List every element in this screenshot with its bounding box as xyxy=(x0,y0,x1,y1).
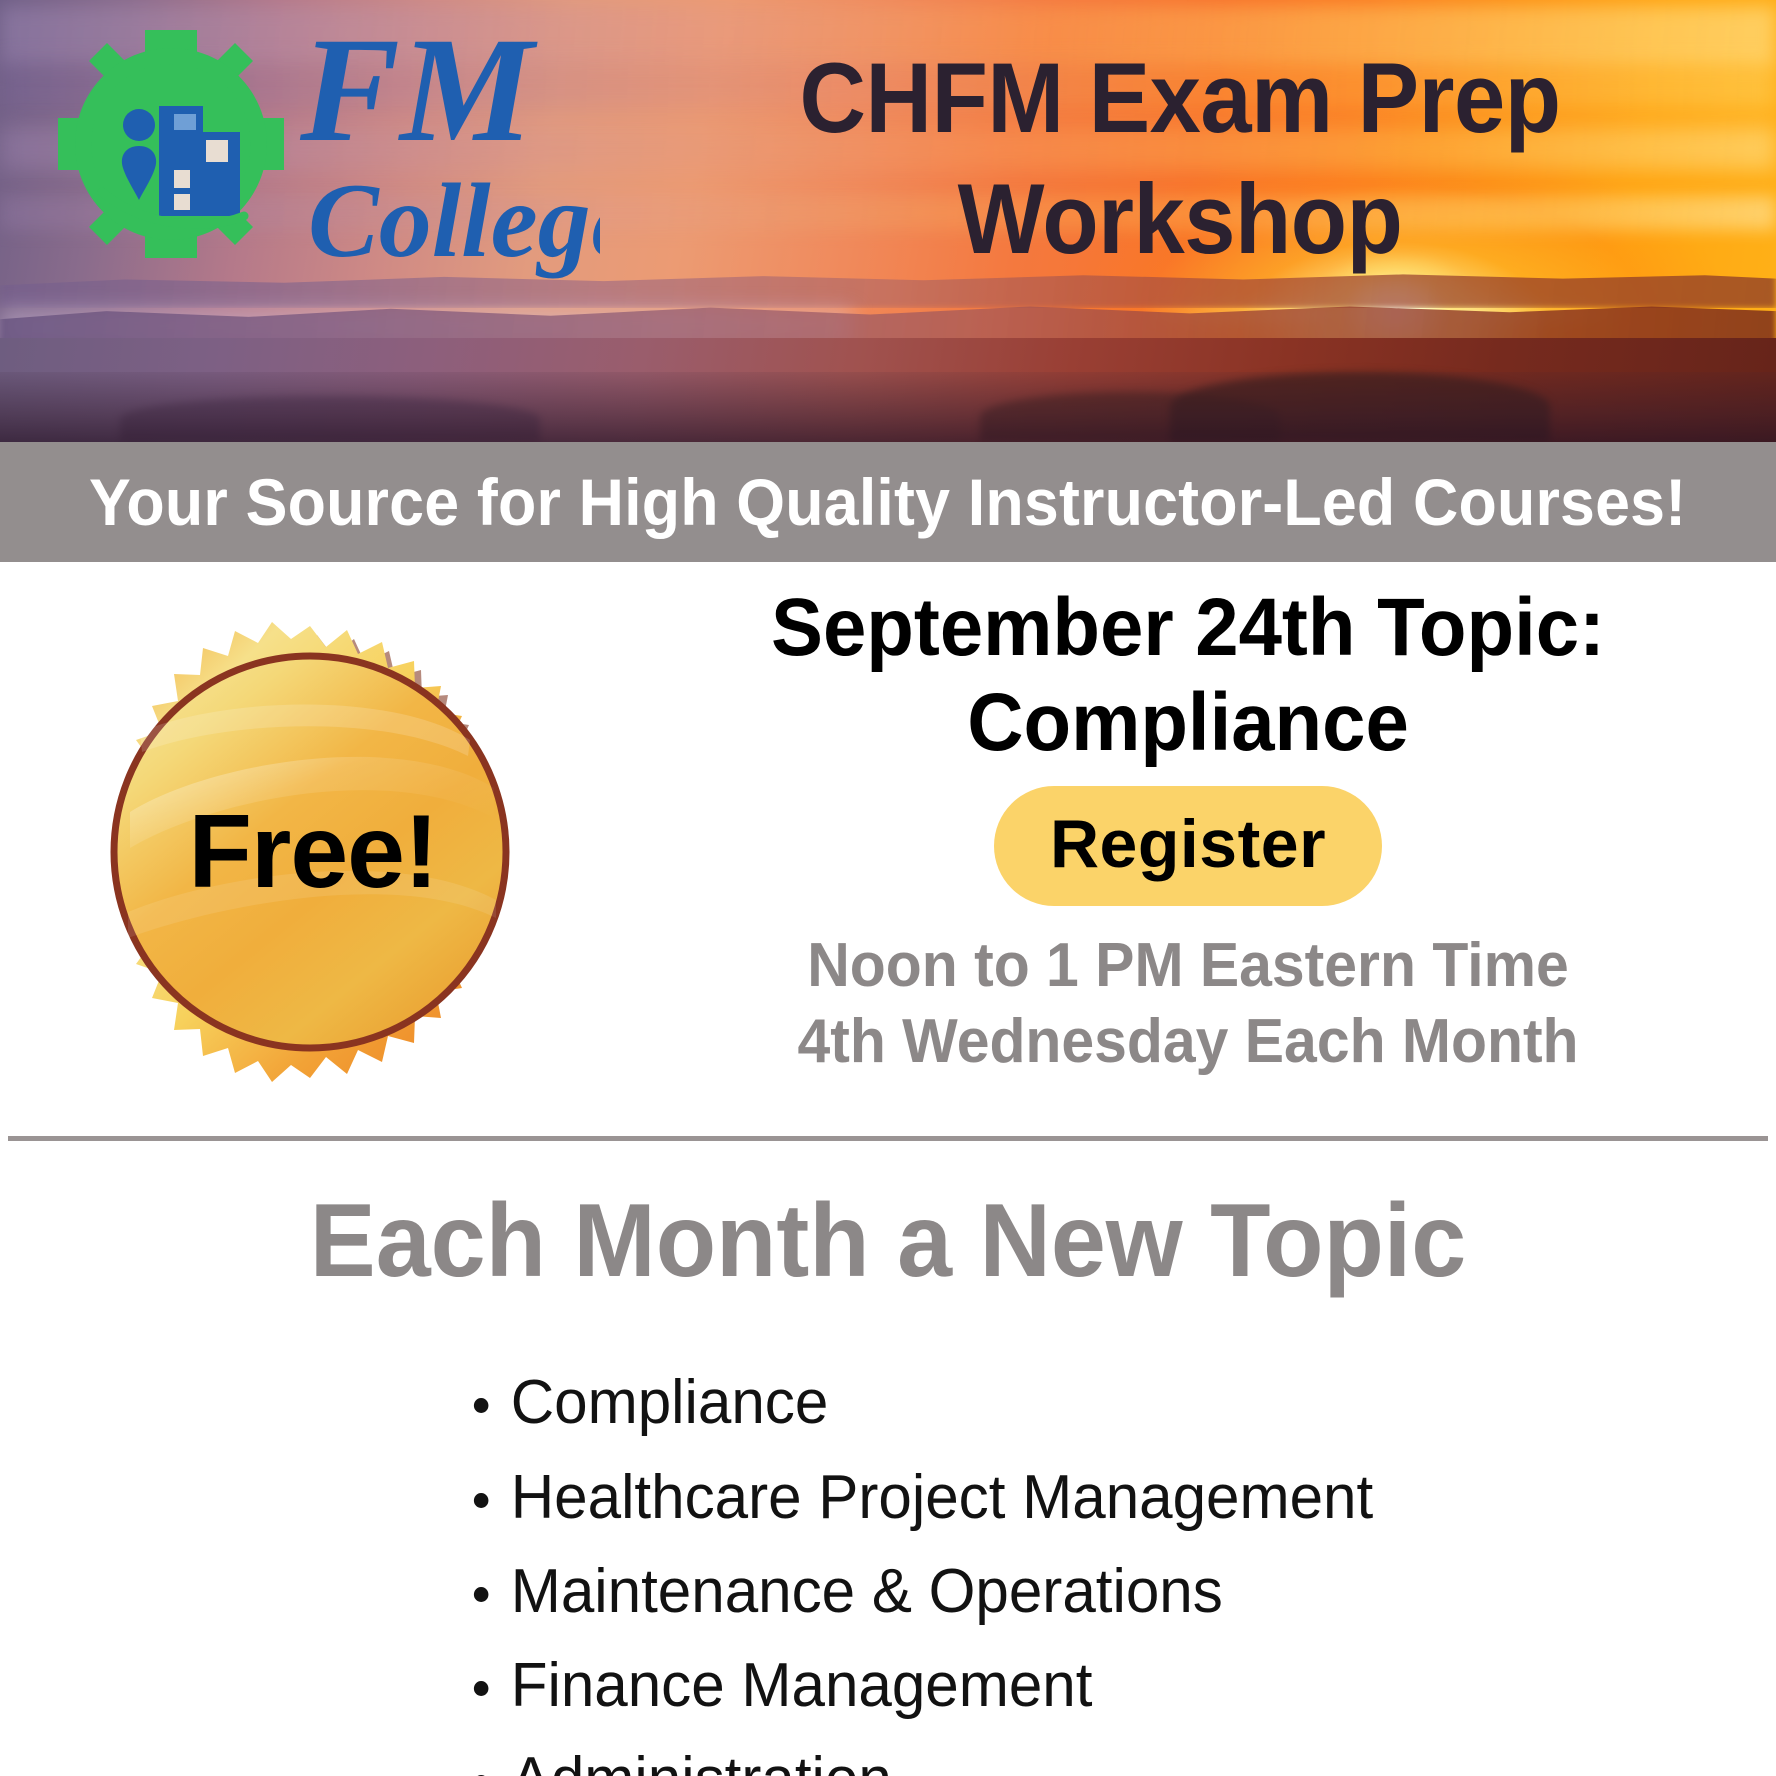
event-section: Free! September 24th Topic: Compliance R… xyxy=(0,562,1776,1138)
hero-banner: FM College CHFM Exam Prep Workshop xyxy=(0,0,1776,442)
topics-section: Each Month a New Topic Compliance Health… xyxy=(0,1160,1776,1776)
foreground-shadow xyxy=(0,372,1776,442)
page-title: CHFM Exam Prep Workshop xyxy=(641,38,1720,280)
tagline-text: Your Source for High Quality Instructor-… xyxy=(89,464,1686,540)
schedule-text: Noon to 1 PM Eastern Time 4th Wednesday … xyxy=(629,928,1746,1079)
wordmark-college: College xyxy=(308,162,600,279)
list-item: Finance Management xyxy=(470,1639,1737,1733)
wordmark-fm: FM xyxy=(299,10,538,173)
promo-poster: FM College CHFM Exam Prep Workshop Your … xyxy=(0,0,1776,1776)
register-button[interactable]: Register xyxy=(994,786,1382,906)
free-badge-label: Free! xyxy=(70,612,550,1092)
topics-heading: Each Month a New Topic xyxy=(44,1184,1731,1298)
tagline-band: Your Source for High Quality Instructor-… xyxy=(0,442,1776,562)
list-item: Healthcare Project Management xyxy=(470,1451,1737,1545)
free-badge: Free! xyxy=(70,612,550,1092)
list-item: Compliance xyxy=(470,1356,1737,1450)
event-details: September 24th Topic: Compliance Registe… xyxy=(600,562,1776,1079)
fm-college-wordmark: FM College xyxy=(290,10,600,280)
list-item: Maintenance & Operations xyxy=(470,1545,1737,1639)
topics-list: Compliance Healthcare Project Management… xyxy=(0,1356,1776,1776)
list-item: Administration xyxy=(470,1733,1737,1776)
topic-heading: September 24th Topic: Compliance xyxy=(629,580,1746,770)
fm-college-gear-logo-icon[interactable] xyxy=(56,28,286,260)
section-divider xyxy=(8,1136,1768,1141)
